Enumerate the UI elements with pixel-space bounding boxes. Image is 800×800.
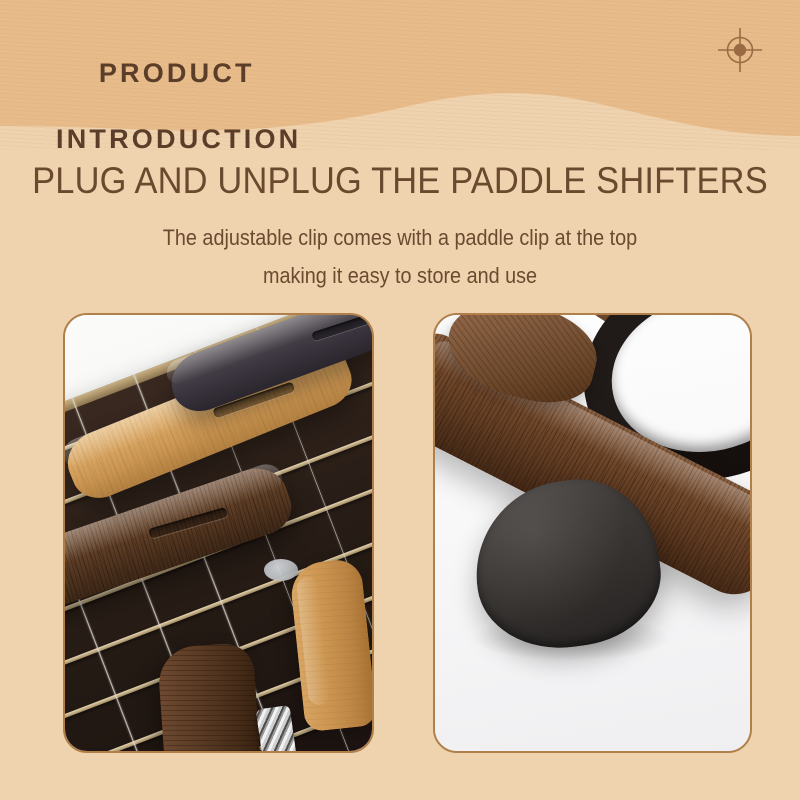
subtitle-line-1: The adjustable clip comes with a paddle …	[40, 224, 760, 252]
subtitle-line-2: making it easy to store and use	[40, 262, 760, 290]
pick-storage-slot	[148, 507, 228, 539]
pick-storage-slot	[311, 315, 372, 341]
eyebrow-line-1: PRODUCT	[99, 58, 255, 88]
page-headline: PLUG AND UNPLUG THE PADDLE SHIFTERS	[28, 158, 772, 204]
eyebrow-line-2: INTRODUCTION	[56, 123, 301, 156]
right-photo-stage	[435, 315, 750, 751]
product-introduction-page: PRODUCT INTRODUCTION PLUG AND UNPLUG THE…	[0, 0, 800, 800]
crosshair-target-icon	[716, 26, 764, 74]
capo-rubber-pad	[264, 559, 298, 581]
walnut-capo-jaw	[157, 642, 262, 751]
product-photo-right	[433, 313, 752, 753]
left-photo-stage	[65, 315, 372, 751]
product-photo-left	[63, 313, 374, 753]
